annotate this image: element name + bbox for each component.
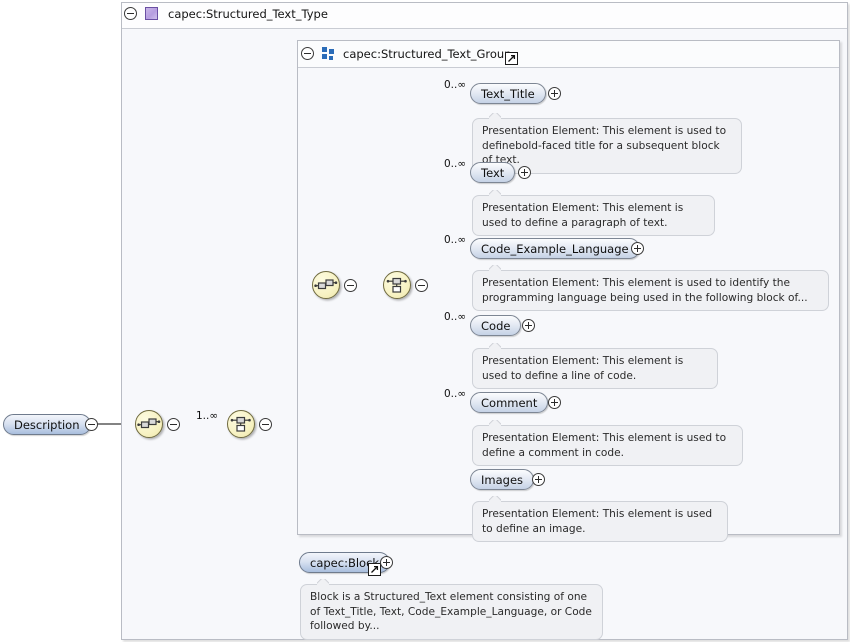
doc-text: Presentation Element: This element is us… bbox=[482, 125, 726, 166]
expand-icon-code-example-language[interactable] bbox=[631, 242, 644, 255]
doc-capec-block: Block is a Structured_Text element consi… bbox=[300, 584, 603, 640]
doc-text: Presentation Element: This element is us… bbox=[482, 202, 683, 229]
model-group-icon bbox=[322, 47, 335, 60]
doc-images: Presentation Element: This element is us… bbox=[472, 501, 728, 542]
type-panel-collapse-icon[interactable] bbox=[124, 7, 137, 20]
cardinality-code-example-language: 0..∞ bbox=[444, 234, 466, 246]
doc-text: Presentation Element: This element is us… bbox=[482, 432, 726, 459]
group-choice-collapse-icon[interactable] bbox=[415, 279, 428, 292]
cardinality-code: 0..∞ bbox=[444, 311, 466, 323]
expand-icon-images[interactable] bbox=[532, 473, 545, 486]
root-choice-collapse-icon[interactable] bbox=[259, 418, 272, 431]
doc-code-example-language: Presentation Element: This element is us… bbox=[472, 270, 829, 311]
expand-icon-text[interactable] bbox=[518, 166, 531, 179]
doc-text: Presentation Element: This element is us… bbox=[482, 277, 808, 304]
doc-text: Presentation Element: This element is us… bbox=[472, 195, 715, 236]
group-choice-compositor[interactable] bbox=[383, 271, 411, 299]
cardinality-comment: 0..∞ bbox=[444, 388, 466, 400]
doc-text: Presentation Element: This element is us… bbox=[482, 508, 712, 535]
group-panel-collapse-icon[interactable] bbox=[301, 47, 314, 60]
element-text-title[interactable]: Text_Title bbox=[470, 83, 546, 104]
element-images[interactable]: Images bbox=[470, 469, 534, 490]
complex-type-icon bbox=[145, 7, 158, 20]
doc-text: Block is a Structured_Text element consi… bbox=[310, 591, 592, 632]
root-choice-compositor[interactable] bbox=[227, 410, 255, 438]
root-choice-cardinality: 1..∞ bbox=[196, 410, 218, 422]
schema-diagram-canvas: capec:Structured_Text_Type capec:Structu… bbox=[0, 0, 850, 642]
block-external-link-icon[interactable] bbox=[368, 563, 381, 576]
doc-comment: Presentation Element: This element is us… bbox=[472, 425, 743, 466]
element-code-example-language[interactable]: Code_Example_Language bbox=[470, 238, 640, 259]
root-element-description[interactable]: Description bbox=[3, 414, 91, 435]
group-panel-title: capec:Structured_Text_Group bbox=[343, 47, 512, 61]
element-text[interactable]: Text bbox=[470, 162, 515, 183]
cardinality-text: 0..∞ bbox=[444, 158, 466, 170]
group-external-link-icon[interactable] bbox=[505, 52, 518, 65]
expand-icon-text-title[interactable] bbox=[548, 87, 561, 100]
doc-text: Presentation Element: This element is us… bbox=[482, 355, 683, 382]
expand-icon-capec-block[interactable] bbox=[380, 556, 393, 569]
type-panel-title: capec:Structured_Text_Type bbox=[168, 7, 328, 21]
expand-icon-code[interactable] bbox=[522, 319, 535, 332]
root-sequence-compositor[interactable] bbox=[135, 410, 163, 438]
cardinality-text-title: 0..∞ bbox=[444, 79, 466, 91]
expand-icon-comment[interactable] bbox=[548, 396, 561, 409]
element-code[interactable]: Code bbox=[470, 315, 521, 336]
group-sequence-collapse-icon[interactable] bbox=[344, 279, 357, 292]
element-comment[interactable]: Comment bbox=[470, 392, 548, 413]
root-collapse-icon[interactable] bbox=[85, 418, 98, 431]
group-sequence-compositor[interactable] bbox=[312, 271, 340, 299]
doc-code: Presentation Element: This element is us… bbox=[472, 348, 718, 389]
root-sequence-collapse-icon[interactable] bbox=[167, 418, 180, 431]
